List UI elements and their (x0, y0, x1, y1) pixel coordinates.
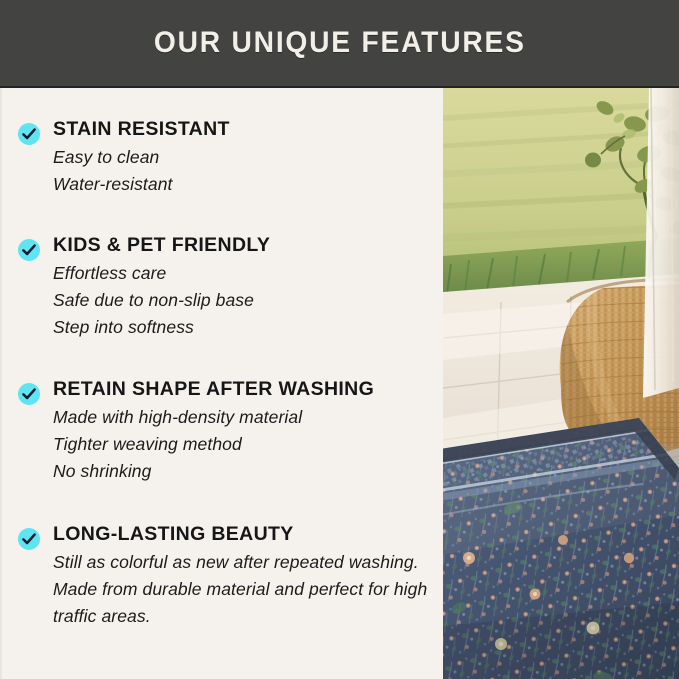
feature-text: KIDS & PET FRIENDLY Effortless care Safe… (53, 236, 438, 341)
feature-text: LONG-LASTING BEAUTY Still as colorful as… (53, 525, 438, 630)
feature-line: No shrinking (53, 458, 438, 485)
feature-line: Effortless care (53, 260, 438, 287)
check-circle-icon (18, 528, 40, 550)
check-circle-icon (18, 123, 40, 145)
header-bar: OUR UNIQUE FEATURES (0, 0, 679, 88)
feature-item: STAIN RESISTANT Easy to clean Water-resi… (18, 120, 438, 198)
feature-title: RETAIN SHAPE AFTER WASHING (53, 380, 438, 400)
feature-paragraph: Still as colorful as new after repeated … (53, 549, 433, 630)
feature-item: RETAIN SHAPE AFTER WASHING Made with hig… (18, 380, 438, 485)
feature-line: Tighter weaving method (53, 431, 438, 458)
features-panel: STAIN RESISTANT Easy to clean Water-resi… (0, 88, 443, 679)
feature-item: KIDS & PET FRIENDLY Effortless care Safe… (18, 236, 438, 341)
check-circle-icon (18, 239, 40, 261)
features-infographic: OUR UNIQUE FEATURES STAIN RESISTANT Easy… (0, 0, 679, 679)
product-photo (443, 88, 679, 679)
feature-line: Step into softness (53, 314, 438, 341)
feature-title: STAIN RESISTANT (53, 120, 438, 140)
feature-line: Easy to clean (53, 144, 438, 171)
feature-text: STAIN RESISTANT Easy to clean Water-resi… (53, 120, 438, 198)
feature-line: Water-resistant (53, 171, 438, 198)
feature-title: LONG-LASTING BEAUTY (53, 525, 438, 545)
feature-title: KIDS & PET FRIENDLY (53, 236, 438, 256)
page-title: OUR UNIQUE FEATURES (154, 26, 526, 60)
feature-item: LONG-LASTING BEAUTY Still as colorful as… (18, 525, 438, 630)
feature-line: Safe due to non-slip base (53, 287, 438, 314)
feature-text: RETAIN SHAPE AFTER WASHING Made with hig… (53, 380, 438, 485)
feature-line: Made with high-density material (53, 404, 438, 431)
check-circle-icon (18, 383, 40, 405)
